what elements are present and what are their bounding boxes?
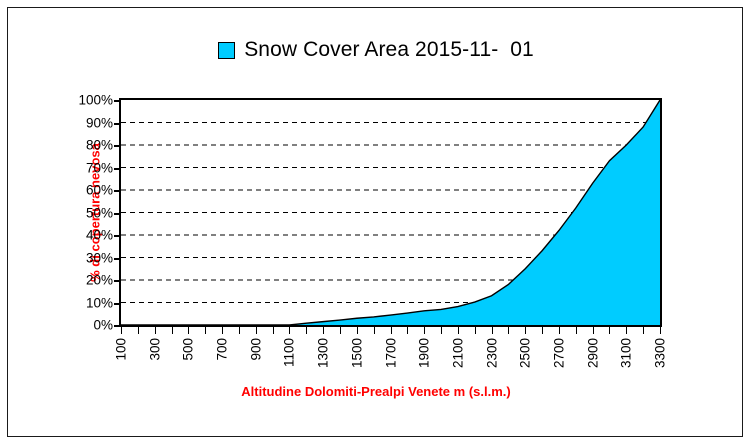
x-tick-mark [239,327,240,334]
x-tick-label: 2700 [551,338,566,368]
x-tick-mark [323,327,324,334]
chart-frame: Snow Cover Area 2015-11- 01 % di copertu… [7,7,743,437]
x-tick-mark [542,327,543,334]
x-tick-label: 1700 [383,338,398,368]
y-axis: % di copertura nevosa 0%10%20%30%40%50%6… [63,98,119,327]
y-tick-label: 30% [86,250,113,265]
y-tick-label: 80% [86,138,113,153]
x-tick-label: 3300 [653,338,668,368]
x-tick-mark [492,327,493,334]
y-tick-label: 90% [86,115,113,130]
x-axis-labels: 1003005007009001100130015001700190021002… [119,338,662,386]
x-tick-label: 1300 [316,338,331,368]
x-tick-mark [121,327,122,334]
x-tick-mark [256,327,257,334]
y-tick-label: 60% [86,183,113,198]
legend-label: Snow Cover Area 2015-11- 01 [244,38,534,62]
x-tick-label: 1900 [417,338,432,368]
x-axis-ticks [119,327,662,337]
x-tick-mark [441,327,442,334]
area-fill [121,100,660,325]
x-tick-mark [407,327,408,334]
x-tick-mark [340,327,341,334]
x-tick-mark [508,327,509,334]
x-tick-mark [593,327,594,334]
x-tick-mark [138,327,139,334]
x-tick-label: 500 [181,338,196,361]
x-axis-title: Altitudine Dolomiti-Prealpi Venete m (s.… [8,384,744,399]
x-tick-mark [374,327,375,334]
x-tick-label: 900 [248,338,263,361]
y-tick-label: 20% [86,273,113,288]
x-tick-mark [525,327,526,334]
x-tick-label: 300 [147,338,162,361]
x-tick-mark [475,327,476,334]
y-tick-label: 100% [78,93,113,108]
x-tick-mark [559,327,560,334]
y-tick-label: 70% [86,160,113,175]
plot-area [119,98,662,327]
x-tick-label: 700 [215,338,230,361]
x-tick-mark [188,327,189,334]
x-tick-mark [306,327,307,334]
y-tick-label: 40% [86,228,113,243]
x-tick-label: 100 [114,338,129,361]
x-tick-label: 2100 [450,338,465,368]
x-tick-mark [155,327,156,334]
x-tick-label: 2900 [585,338,600,368]
x-tick-mark [424,327,425,334]
y-tick-label: 0% [93,318,113,333]
x-tick-mark [357,327,358,334]
x-tick-mark [172,327,173,334]
legend-color-swatch [218,42,235,59]
x-tick-mark [458,327,459,334]
x-tick-label: 3100 [619,338,634,368]
x-tick-mark [609,327,610,334]
x-tick-mark [222,327,223,334]
x-tick-label: 1500 [349,338,364,368]
x-tick-mark [273,327,274,334]
x-tick-mark [205,327,206,334]
x-tick-mark [289,327,290,334]
x-tick-mark [391,327,392,334]
y-tick-label: 10% [86,295,113,310]
x-tick-label: 1100 [282,338,297,367]
x-tick-mark [660,327,661,334]
x-tick-mark [643,327,644,334]
chart-legend: Snow Cover Area 2015-11- 01 [8,38,744,62]
x-tick-label: 2300 [484,338,499,368]
y-tick-label: 50% [86,205,113,220]
x-tick-mark [626,327,627,334]
area-series [121,100,660,325]
x-tick-label: 2500 [518,338,533,368]
x-tick-mark [576,327,577,334]
